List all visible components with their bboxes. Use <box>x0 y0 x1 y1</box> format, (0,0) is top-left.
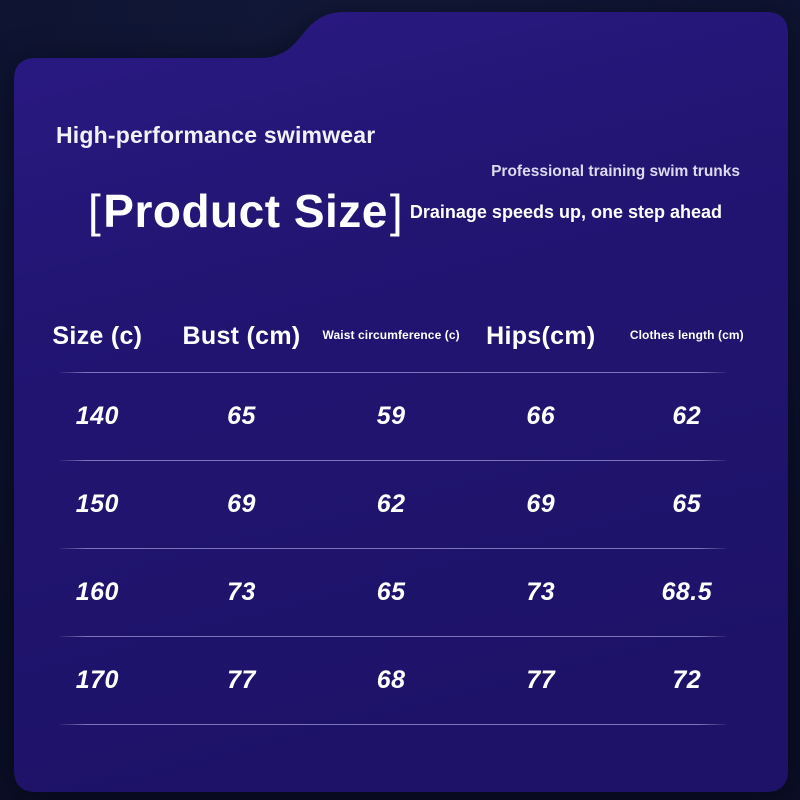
cell-hips: 77 <box>466 666 616 695</box>
cell-size: 160 <box>28 578 167 607</box>
column-header-hips: Hips(cm) <box>466 322 616 351</box>
column-header-bust: Bust (cm) <box>167 322 317 351</box>
title-open-bracket: [ <box>86 185 103 237</box>
cell-waist: 68 <box>316 666 466 695</box>
cell-bust: 77 <box>167 666 317 695</box>
cell-length: 72 <box>616 666 758 695</box>
title-text: Product Size <box>103 185 388 237</box>
cell-hips: 69 <box>466 490 616 519</box>
title-close-bracket: ] <box>388 185 405 237</box>
cell-length: 62 <box>616 402 758 431</box>
page-headline: High-performance swimwear <box>56 122 375 149</box>
cell-length: 68.5 <box>616 578 758 607</box>
cell-waist: 62 <box>316 490 466 519</box>
size-table: Size (c) Bust (cm) Waist circumference (… <box>28 300 758 725</box>
subtitle-main: Drainage speeds up, one step ahead <box>410 202 722 223</box>
cell-size: 170 <box>28 666 167 695</box>
cell-waist: 65 <box>316 578 466 607</box>
cell-bust: 69 <box>167 490 317 519</box>
column-header-waist: Waist circumference (c) <box>316 329 466 343</box>
cell-size: 140 <box>28 402 167 431</box>
cell-hips: 73 <box>466 578 616 607</box>
cell-hips: 66 <box>466 402 616 431</box>
subtitle-top: Professional training swim trunks <box>491 163 740 181</box>
table-row: 150 69 62 69 65 <box>28 461 758 548</box>
table-row: 170 77 68 77 72 <box>28 637 758 724</box>
product-size-poster: High-performance swimwear [Product Size]… <box>0 0 800 800</box>
page-title: [Product Size] <box>86 188 405 234</box>
cell-waist: 59 <box>316 402 466 431</box>
table-row: 140 65 59 66 62 <box>28 373 758 460</box>
column-header-length: Clothes length (cm) <box>616 329 758 343</box>
column-header-size: Size (c) <box>28 322 167 351</box>
cell-size: 150 <box>28 490 167 519</box>
table-divider <box>60 724 726 725</box>
cell-bust: 65 <box>167 402 317 431</box>
cell-length: 65 <box>616 490 758 519</box>
size-table-header-row: Size (c) Bust (cm) Waist circumference (… <box>28 300 758 372</box>
table-row: 160 73 65 73 68.5 <box>28 549 758 636</box>
cell-bust: 73 <box>167 578 317 607</box>
